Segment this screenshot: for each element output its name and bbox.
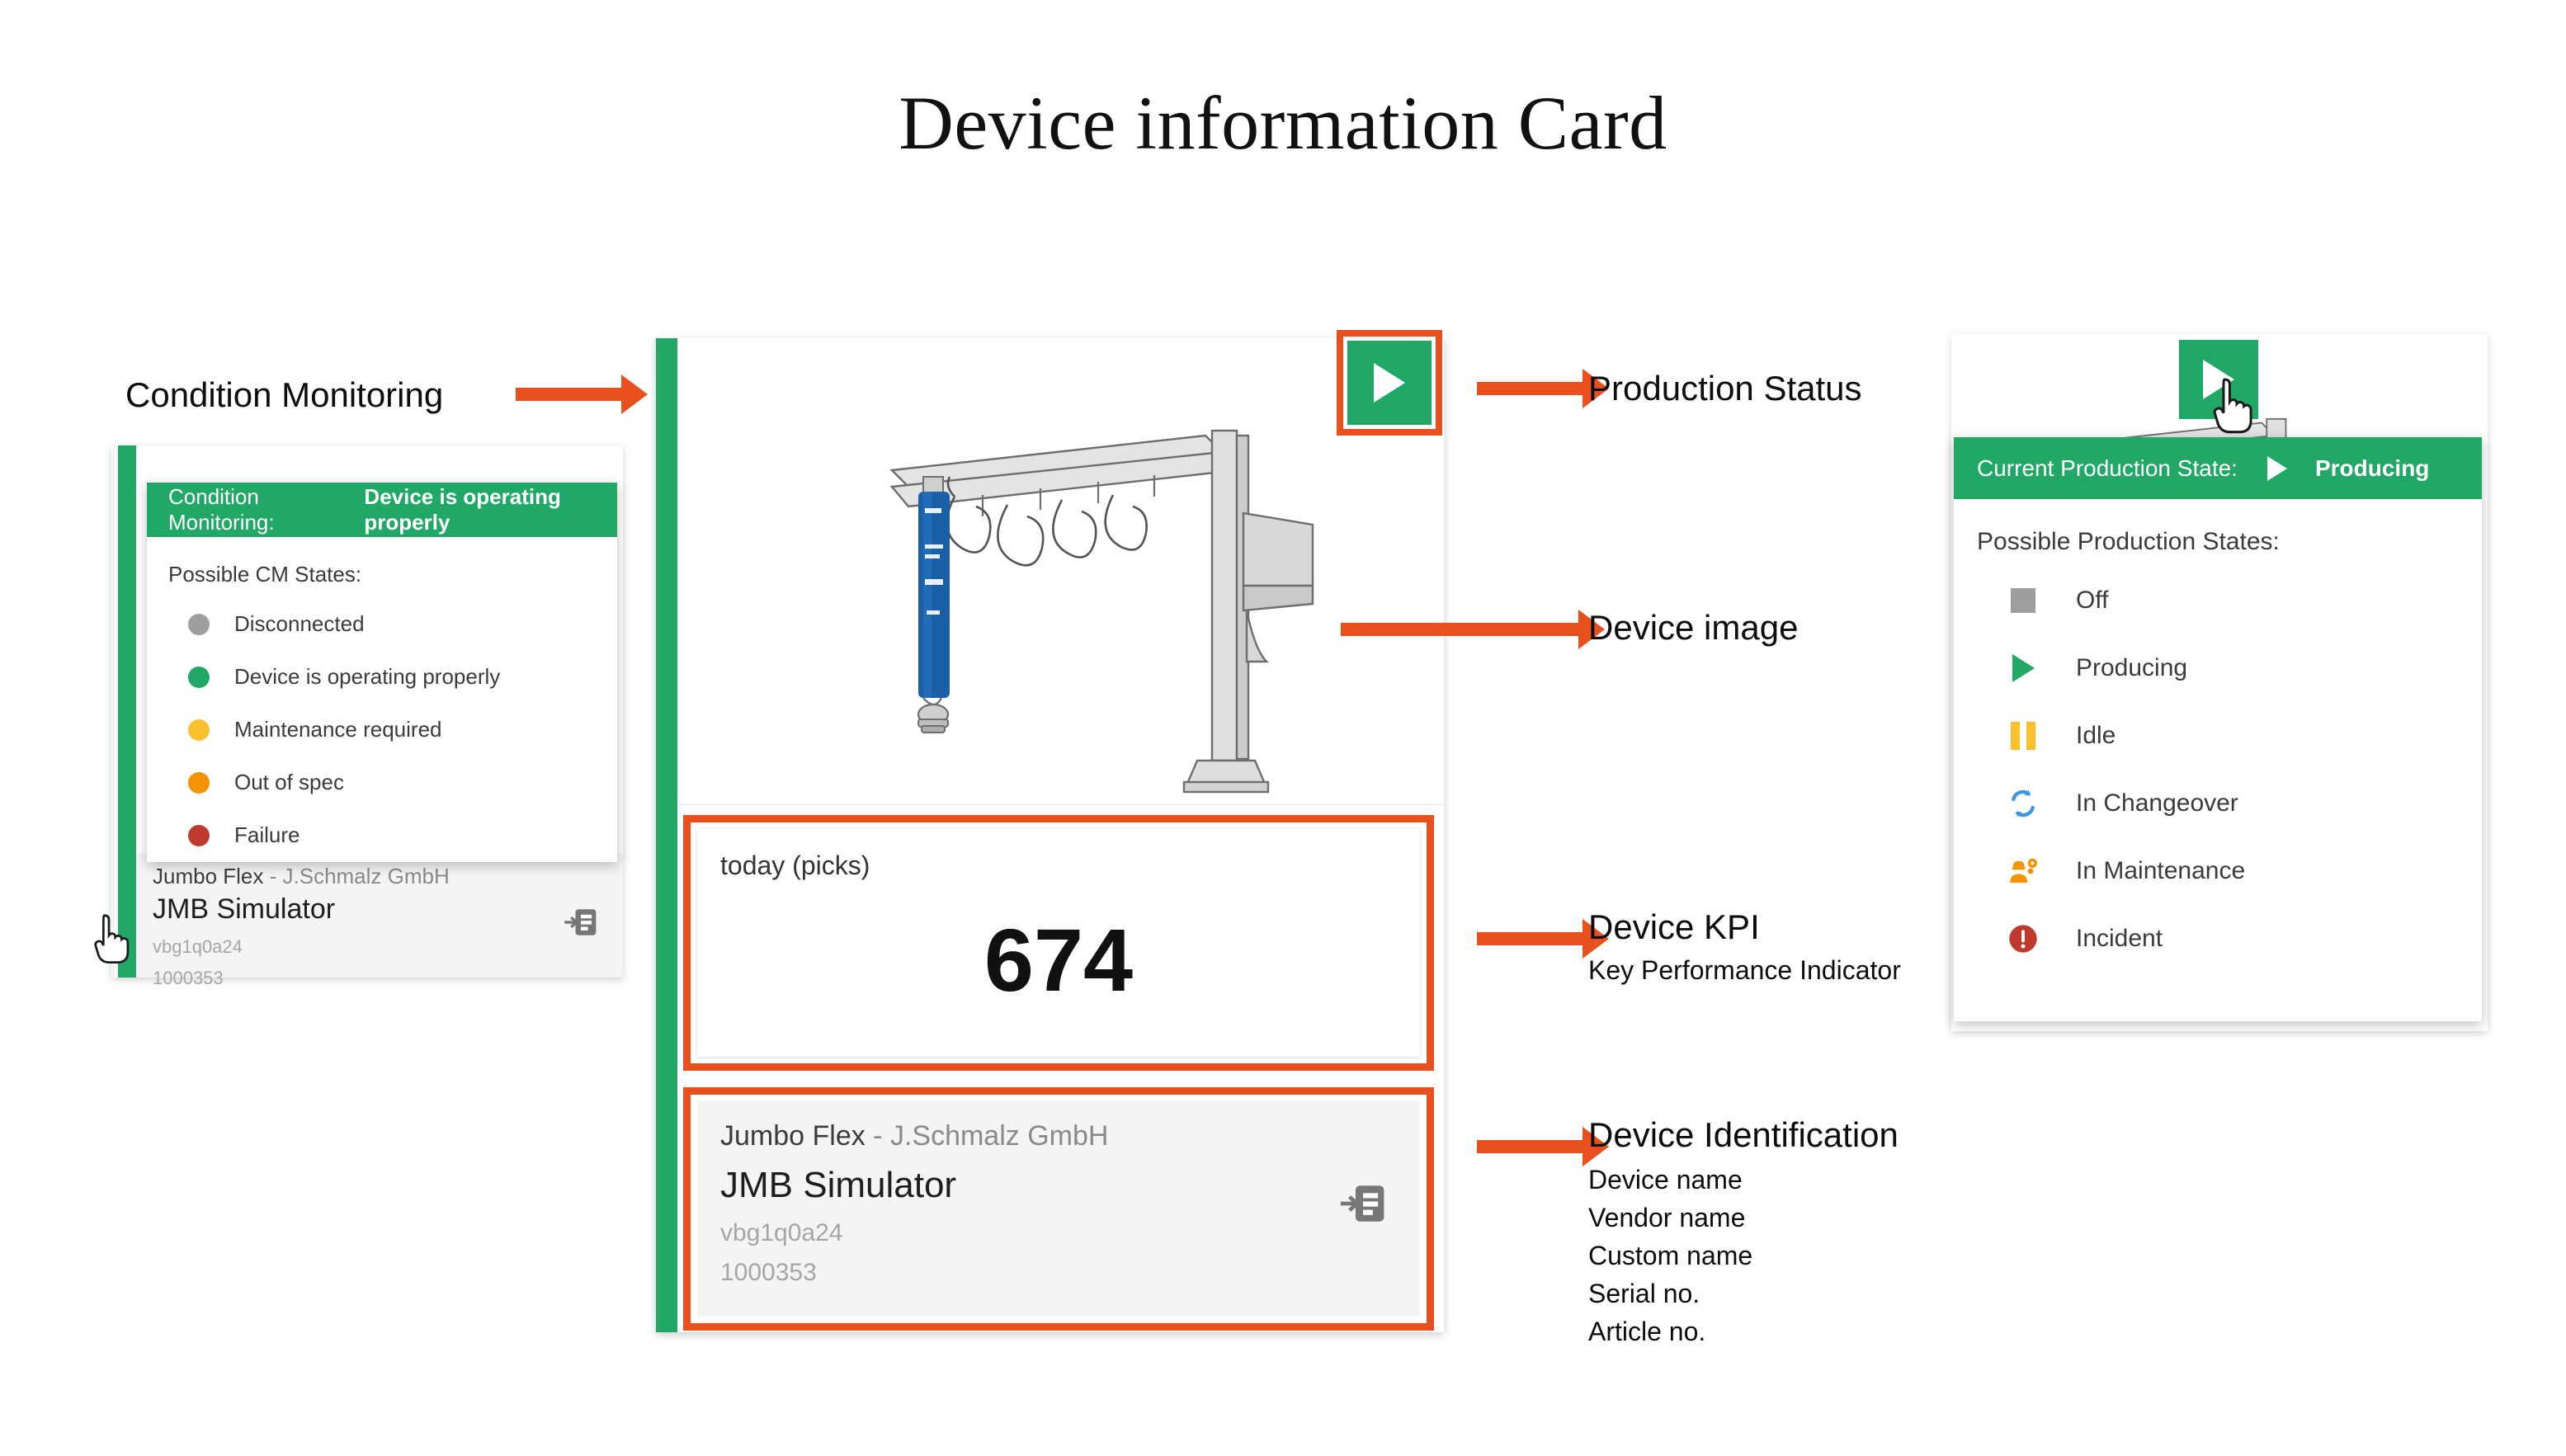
cm-state-label: Disconnected: [234, 611, 365, 637]
cm-dot-icon: [188, 825, 210, 846]
cm-header-value: Device is operating properly: [364, 484, 617, 535]
annotation-condition-monitoring: Condition Monitoring: [125, 375, 443, 415]
ps-state-idle: Idle: [2005, 718, 2116, 754]
cm-dot-icon: [188, 719, 210, 741]
cursor-pointer-icon-right: [2211, 375, 2257, 441]
arrow-condition-monitoring: [516, 388, 623, 401]
device-identification-highlight: [683, 1087, 1434, 1331]
play-icon: [2005, 650, 2041, 686]
ps-state-label: In Changeover: [2076, 789, 2238, 818]
page-title: Device information Card: [0, 79, 2566, 167]
pause-icon: [2005, 718, 2041, 754]
ident-field-article-no: Article no.: [1588, 1317, 1705, 1347]
cm-state-maintenance: Maintenance required: [188, 717, 442, 742]
ps-state-label: Producing: [2076, 654, 2187, 682]
ps-header-label: Current Production State:: [1977, 455, 2238, 482]
ps-popup-header: Current Production State: Producing: [1954, 437, 2482, 499]
annotation-device-kpi-sub: Key Performance Indicator: [1588, 955, 1901, 986]
cm-popup-header: Condition Monitoring: Device is operatin…: [147, 483, 617, 537]
condition-monitoring-bar-left[interactable]: [118, 445, 136, 978]
cm-dot-icon: [188, 772, 210, 794]
annotation-device-image: Device image: [1588, 608, 1798, 648]
play-icon: [2267, 456, 2287, 481]
condition-monitoring-popup: Condition Monitoring: Device is operatin…: [147, 483, 617, 862]
cm-dot-icon: [188, 614, 210, 635]
ps-state-off: Off: [2005, 582, 2108, 619]
device-vendor-line-left: Jumbo Flex - J.Schmalz GmbH: [153, 864, 450, 889]
ps-state-producing: Producing: [2005, 650, 2187, 686]
cursor-pointer-icon: [92, 912, 134, 971]
cm-state-disconnected: Disconnected: [188, 611, 365, 637]
ps-state-incident: Incident: [2005, 921, 2163, 957]
device-identification-left[interactable]: Jumbo Flex - J.Schmalz GmbH JMB Simulato…: [136, 854, 623, 978]
sync-icon: [2005, 785, 2041, 822]
ident-field-serial-no: Serial no.: [1588, 1279, 1700, 1309]
play-icon: [1374, 363, 1405, 403]
device-image-illustration: [677, 338, 1444, 804]
ps-subtitle: Possible Production States:: [1977, 528, 2280, 556]
annotation-device-identification: Device Identification: [1588, 1115, 1899, 1155]
cm-subtitle: Possible CM States:: [168, 562, 361, 587]
ps-header-value: Producing: [2315, 455, 2429, 482]
device-image: [677, 338, 1444, 805]
square-icon: [2005, 582, 2041, 619]
article-no-left: 1000353: [153, 968, 224, 989]
device-kpi-highlight: [683, 815, 1434, 1071]
ps-state-label: Off: [2076, 587, 2108, 615]
ident-field-device-name: Device name: [1588, 1165, 1743, 1195]
cm-state-label: Maintenance required: [234, 717, 442, 742]
cm-state-operating: Device is operating properly: [188, 664, 500, 690]
worker-gear-icon: [2005, 853, 2041, 889]
separator-left: -: [263, 864, 282, 888]
ps-state-changeover: In Changeover: [2005, 785, 2238, 822]
cm-state-label: Device is operating properly: [234, 664, 500, 690]
condition-monitoring-bar[interactable]: [656, 338, 677, 1332]
cm-state-failure: Failure: [188, 822, 300, 848]
annotation-device-kpi: Device KPI: [1588, 907, 1760, 947]
annotation-production-status: Production Status: [1588, 369, 1862, 408]
ps-state-maintenance: In Maintenance: [2005, 853, 2245, 889]
device-name-left: Jumbo Flex: [153, 864, 263, 888]
production-status-button[interactable]: [1347, 341, 1432, 425]
login-arrow-icon-left[interactable]: [564, 905, 598, 940]
arrow-device-kpi: [1477, 932, 1584, 945]
arrow-device-image: [1341, 623, 1580, 636]
arrow-production-status: [1477, 382, 1584, 395]
arrow-device-identification: [1477, 1140, 1584, 1153]
ps-state-label: In Maintenance: [2076, 857, 2245, 885]
serial-no-left: vbg1q0a24: [153, 936, 243, 958]
ident-field-vendor-name: Vendor name: [1588, 1203, 1745, 1233]
cm-header-label: Condition Monitoring:: [168, 484, 346, 535]
alert-icon: [2005, 921, 2041, 957]
custom-name-left: JMB Simulator: [153, 893, 335, 926]
ident-field-custom-name: Custom name: [1588, 1241, 1752, 1271]
cm-state-label: Failure: [234, 822, 300, 848]
ps-state-label: Idle: [2076, 722, 2116, 750]
production-state-popup: Current Production State: Producing Poss…: [1954, 437, 2482, 1021]
ps-state-label: Incident: [2076, 925, 2163, 953]
cm-dot-icon: [188, 667, 210, 688]
vendor-name-left: J.Schmalz GmbH: [283, 864, 450, 888]
cm-state-label: Out of spec: [234, 770, 344, 795]
cm-state-out-of-spec: Out of spec: [188, 770, 344, 795]
